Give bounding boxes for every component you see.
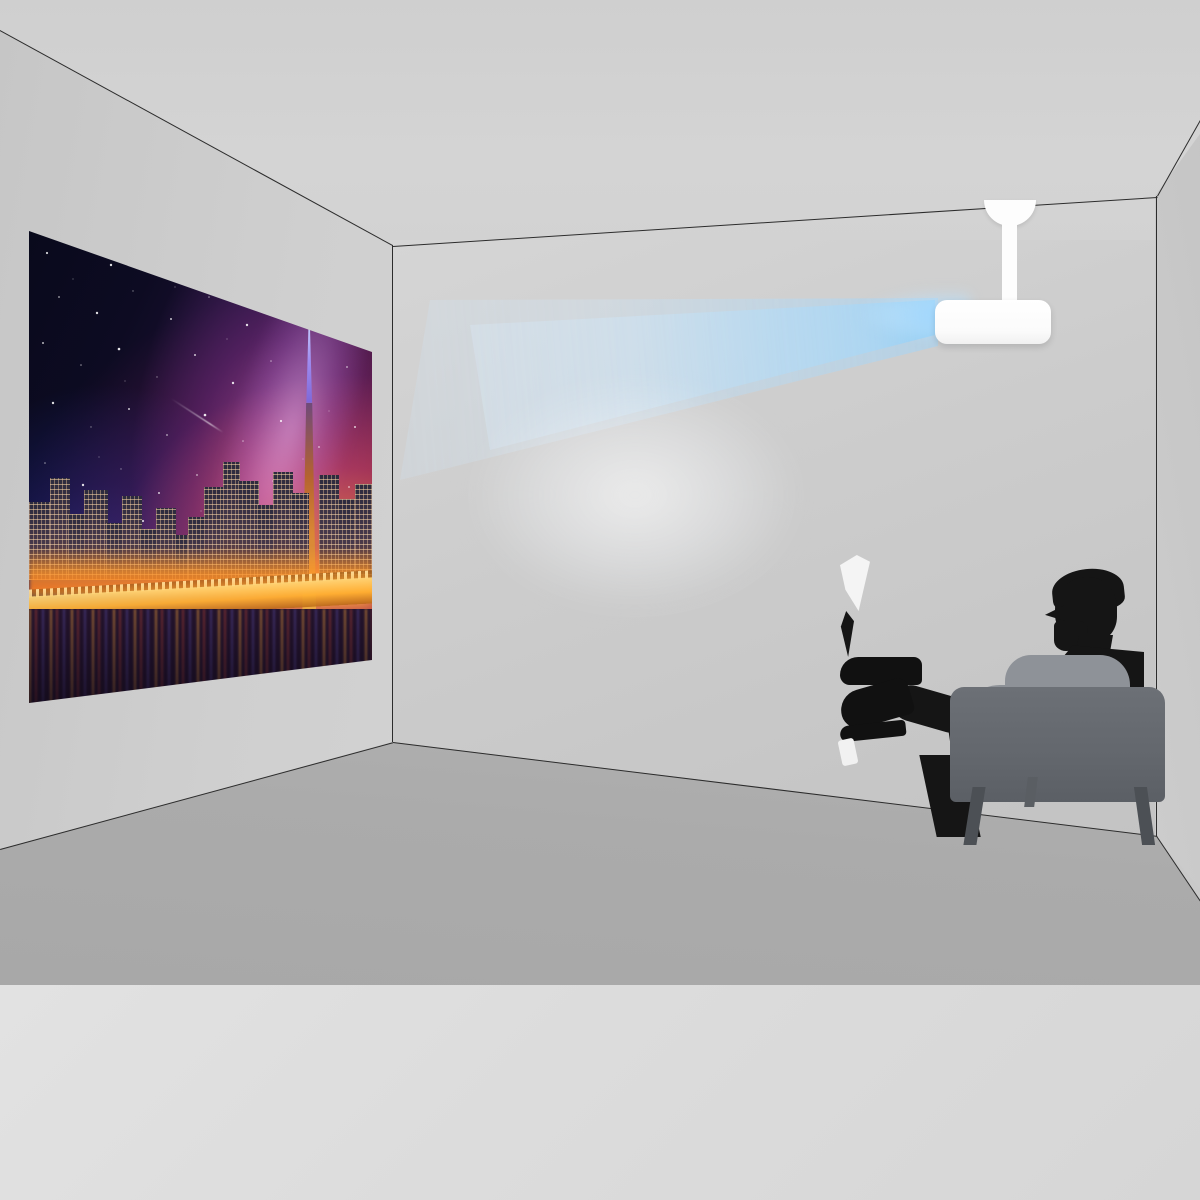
left-corner-line bbox=[392, 245, 393, 742]
ceiling-projector[interactable] bbox=[930, 200, 1060, 350]
projector-ceiling-mount bbox=[984, 200, 1036, 226]
projector-body bbox=[935, 300, 1051, 344]
seating-group bbox=[840, 555, 1190, 845]
projector-mount-pole bbox=[1002, 224, 1017, 306]
wall-light-spill bbox=[470, 380, 800, 610]
tower-spire bbox=[306, 321, 312, 409]
projector-illustration-stage: STANDARD THROW PROJECTOR Ceiling or tabl… bbox=[0, 0, 1200, 1200]
caption-band bbox=[0, 985, 1200, 1200]
viewer-sock-cuff bbox=[837, 738, 858, 767]
viewer-lower-shoe bbox=[840, 657, 922, 685]
viewer-shirt-collar bbox=[840, 555, 870, 611]
viewer-necktie bbox=[840, 611, 854, 657]
armchair-armrest bbox=[950, 687, 1165, 802]
room-scene bbox=[0, 0, 1200, 985]
